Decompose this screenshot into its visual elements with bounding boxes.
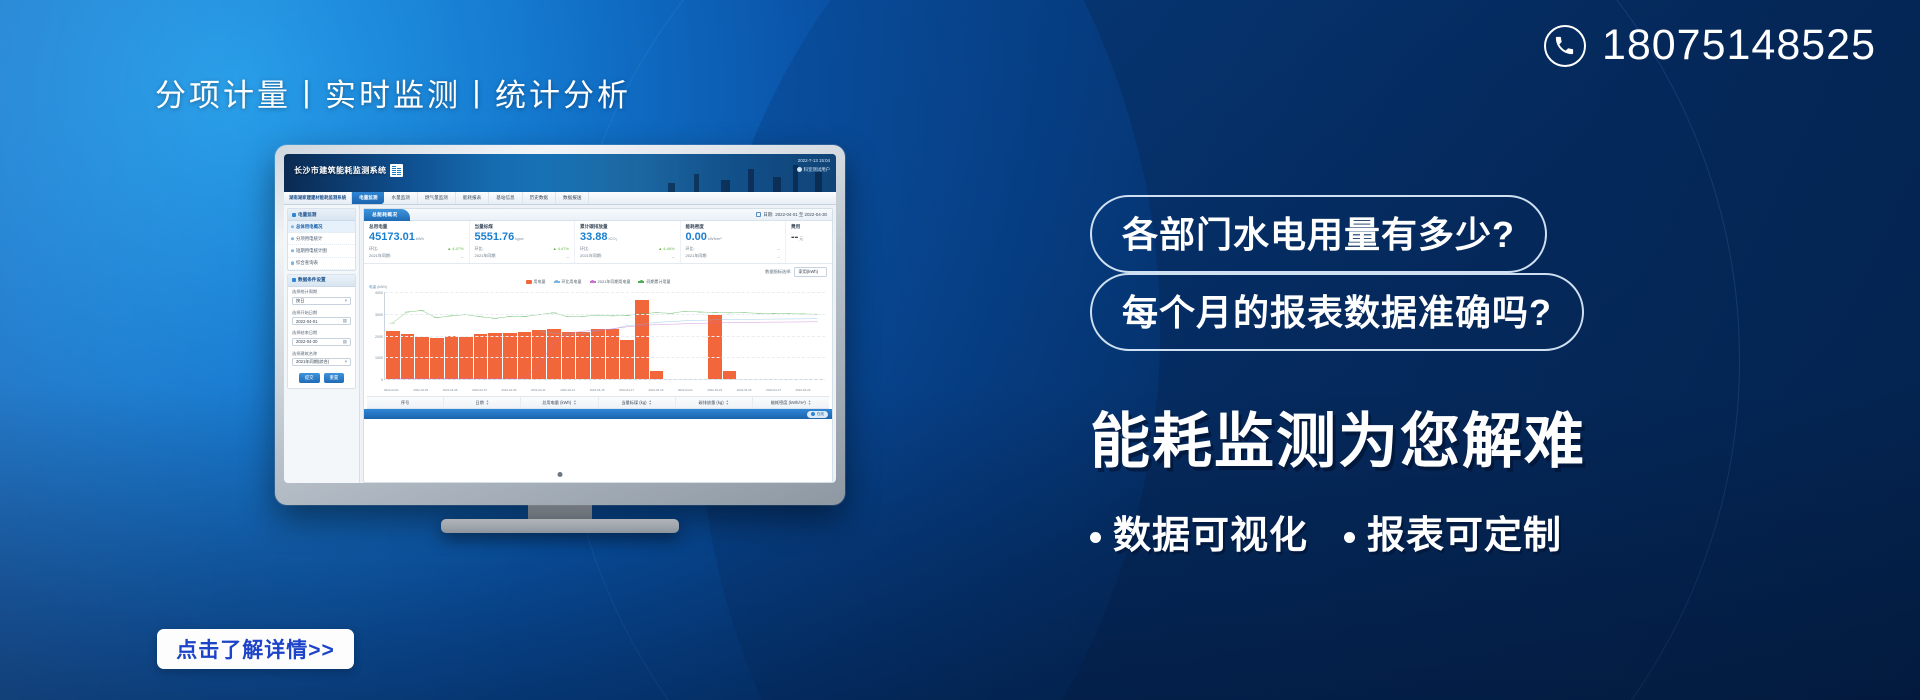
sidebar-item-query[interactable]: 综合查询表 — [288, 258, 355, 270]
kpi-value: 45173.01kWh — [369, 232, 464, 243]
kpi-number: 5551.76 — [475, 231, 515, 243]
kpi-title: 总用电量 — [369, 224, 464, 230]
kpi-yoy-row: 2021年同期: -- — [475, 253, 570, 259]
kpi-number: 33.88 — [580, 231, 608, 243]
banner-strapline: 分项计量丨实时监测丨统计分析 — [155, 70, 631, 115]
bullet-item-1: 数据可视化 — [1090, 504, 1308, 559]
nav-item-reports[interactable]: 能耗报表 — [456, 192, 489, 204]
main-headline: 能耗监测为您解难 — [1090, 393, 1880, 480]
kpi-yoy-label: 2021年同期: — [580, 253, 602, 259]
nav-item-history[interactable]: 历史数据 — [523, 192, 556, 204]
kpi-yoy-value: -- — [566, 254, 569, 259]
chart-x-tick: 2022-04-09 — [502, 388, 517, 392]
kpi-value: 33.88tCO₂ — [580, 232, 675, 243]
kpi-card-standard-coal: 当量标煤 5551.76kgce 环比: ▲4.47% 2021年同期: -- — [470, 221, 576, 263]
kpi-yoy-row: 2021年同期: -- — [369, 253, 464, 259]
chart-line-2021年同期用电量 — [392, 322, 817, 379]
kpi-yoy-row: 2021年同期: -- — [686, 253, 781, 259]
period-value: 按日 — [296, 298, 304, 304]
sort-icon[interactable]: ▲▼ — [486, 400, 489, 406]
field-building-label: 选择建筑名称 — [292, 351, 351, 357]
right-copy-column: 各部门水电用量有多少? 每个月的报表数据准确吗? 能耗监测为您解难 数据可视化 … — [1090, 195, 1880, 559]
kpi-ring-value-wrap: ▲4.46% — [658, 246, 674, 251]
dashboard-body: 电量监测 总体用电概况 分项用电统计 短期用电统计图 综合查询表 数据条件设置 — [284, 205, 836, 483]
sidebar-menu-card: 电量监测 总体用电概况 分项用电统计 短期用电统计图 综合查询表 — [287, 208, 356, 271]
kpi-yoy-value: -- — [777, 254, 780, 259]
reset-button[interactable]: 重置 — [324, 373, 345, 383]
legend-label-2: 2021年同期用电量 — [598, 279, 631, 285]
header-timestamp: 2022-7-13 15:04 — [797, 158, 830, 165]
legend-swatch-icon — [638, 281, 644, 283]
chart-plot: 电量 (kWh) 01000200030004000 2022-04-01202… — [369, 286, 827, 394]
monitor-bezel: 长沙市建筑能耗监测系统 2022-7-13 15:04 科室测试用户 湖南湖家建… — [275, 145, 845, 505]
field-end-date-label: 选择结束日期 — [292, 330, 351, 336]
monitor-stand-base — [441, 519, 679, 533]
chart-gridline: 1000 — [385, 357, 825, 358]
field-end-date: 选择结束日期 2022-04-30 ▦ — [288, 328, 355, 349]
kpi-ring-value: 4.46% — [663, 246, 674, 251]
kpi-card-carbon: 累计碳排放量 33.88tCO₂ 环比: ▲4.46% 2021年同期: -- — [575, 221, 681, 263]
legend-swatch-icon — [554, 281, 560, 283]
kpi-yoy-row: 2021年同期: -- — [580, 253, 675, 259]
table-column-header[interactable]: 日期▲▼ — [444, 397, 521, 408]
end-date-value: 2022-04-30 — [296, 339, 317, 344]
chart-x-tick: 2022-04-27 — [766, 388, 781, 392]
building-select[interactable]: 2021年同期(综合) ▾ — [292, 358, 351, 366]
dashboard-navbar: 湖南湖家建建材能耗监测系统 电量监测 水量监测 燃气量监测 能耗报表 基站信息 … — [284, 192, 836, 205]
panel-header: 总能耗概况 日期: 2022-04-01 至 2022-04-30 — [364, 209, 832, 221]
filter-buttons: 提交 重置 — [288, 369, 355, 388]
sidebar: 电量监测 总体用电概况 分项用电统计 短期用电统计图 综合查询表 数据条件设置 — [284, 205, 360, 483]
dashboard-header: 长沙市建筑能耗监测系统 2022-7-13 15:04 科室测试用户 — [284, 154, 836, 192]
field-period-label: 选择统计周期 — [292, 289, 351, 295]
chart-x-tick: 2022-04-13 — [560, 388, 575, 392]
sidebar-menu-title: 电量监测 — [298, 212, 316, 218]
bullet-dot-icon — [1090, 532, 1101, 543]
calendar-icon — [756, 212, 761, 217]
chart-line-同期累计用量 — [392, 310, 817, 323]
table-column-label: 日期 — [475, 400, 483, 406]
skyline-graphic — [494, 154, 836, 192]
kpi-card-density: 能耗密度 0.00kWh/m² 环比: -- 2021年同期: -- — [681, 221, 787, 263]
calendar-icon: ▦ — [343, 318, 347, 324]
system-logo: 长沙市建筑能耗监测系统 — [294, 164, 403, 177]
menu-icon — [292, 213, 296, 217]
chart-selector-label: 数据指标选择: — [765, 269, 791, 275]
legend-swatch-icon — [526, 280, 532, 284]
kpi-title: 能耗密度 — [686, 224, 781, 230]
kpi-ring-row: 环比: ▲4.47% — [369, 246, 464, 252]
legend-entry-3: 同期累计用量 — [638, 279, 670, 285]
kpi-ring-value-wrap: ▲4.47% — [447, 246, 463, 251]
kpi-number: 0.00 — [686, 231, 707, 243]
field-building: 选择建筑名称 2021年同期(综合) ▾ — [288, 348, 355, 369]
kpi-ring-value: -- — [777, 246, 780, 251]
chart-x-tick: 2022-04-21 — [678, 388, 693, 392]
trend-up-icon: ▲ — [553, 246, 557, 251]
kpi-value: 0.00kWh/m² — [686, 232, 781, 243]
chart-metric-selector-row: 数据指标选择: 家用(kWh) — [369, 267, 827, 277]
bullet-dot-icon — [1344, 532, 1355, 543]
phone-number: 18075148525 — [1602, 24, 1876, 67]
sidebar-filter-card: 数据条件设置 选择统计周期 按日 ▾ 选择开始日期 — [287, 274, 356, 389]
chart-x-tick: 2022-04-17 — [619, 388, 634, 392]
kpi-unit: tCO₂ — [609, 236, 618, 241]
monitor-power-led — [558, 472, 563, 477]
chart-gridline: 2000 — [385, 336, 825, 337]
sidebar-item-itemized[interactable]: 分项用电统计 — [288, 233, 355, 245]
table-column-header[interactable]: 碳排放量 (kg)▲▼ — [676, 397, 753, 408]
chart-y-tick: 3000 — [375, 313, 383, 317]
chart-y-tick: 1000 — [375, 356, 383, 360]
table-column-header: 序号 — [367, 397, 444, 408]
sidebar-filter-title: 数据条件设置 — [298, 277, 326, 283]
sort-icon[interactable]: ▲▼ — [573, 400, 576, 406]
table-column-label: 当量标煤 (kg) — [621, 400, 646, 406]
main-content: 总能耗概况 日期: 2022-04-01 至 2022-04-30 总用电量 — [360, 205, 836, 483]
kpi-unit: kWh — [416, 236, 424, 241]
kpi-ring-label: 环比: — [686, 246, 695, 252]
kpi-ring-label: 环比: — [475, 246, 484, 252]
header-user[interactable]: 科室测试用户 — [797, 167, 830, 174]
chart-y-axis-unit: (kWh) — [377, 285, 387, 289]
nav-item-water[interactable]: 水量监测 — [384, 192, 417, 204]
chart-x-tick: 2022-04-23 — [707, 388, 722, 392]
bullet-item-2: 报表可定制 — [1344, 504, 1562, 559]
panel-date-label: 日期: — [763, 212, 773, 218]
monitor-screen: 长沙市建筑能耗监测系统 2022-7-13 15:04 科室测试用户 湖南湖家建… — [284, 154, 836, 483]
chart-line-环比用电量 — [539, 319, 818, 334]
chart-x-tick: 2022-04-11 — [531, 388, 546, 392]
table-column-label: 能耗密度 (kWh/m²) — [771, 400, 806, 406]
submit-button[interactable]: 提交 — [299, 373, 320, 383]
kpi-value: --元 — [791, 232, 827, 243]
feature-bullets: 数据可视化 报表可定制 — [1090, 504, 1880, 559]
kpi-unit: 元 — [799, 236, 803, 241]
chart-y-axis-label: 电量 (kWh) — [369, 285, 387, 290]
legend-entry-2: 2021年同期用电量 — [590, 279, 631, 285]
table-header-row: 序号日期▲▼总用电量 (kWh)▲▼当量标煤 (kg)▲▼碳排放量 (kg)▲▼… — [367, 397, 829, 409]
kpi-ring-value: 4.47% — [558, 246, 569, 251]
kpi-ring-row: 环比: ▲4.47% — [475, 246, 570, 252]
user-icon — [797, 167, 802, 172]
kpi-ring-label: 环比: — [369, 246, 378, 252]
monitor-mockup: 长沙市建筑能耗监测系统 2022-7-13 15:04 科室测试用户 湖南湖家建… — [275, 145, 845, 505]
sort-icon[interactable]: ▲▼ — [726, 400, 729, 406]
status-dot-icon — [811, 412, 815, 416]
kpi-title: 累计碳排放量 — [580, 224, 675, 230]
period-select[interactable]: 按日 ▾ — [292, 297, 351, 305]
chart-legend: 用电量 环比用电量 2021年同期用电量 同期累计用量 — [369, 279, 827, 285]
chart-x-tick: 2022-04-03 — [413, 388, 428, 392]
field-start-date: 选择开始日期 2022-04-01 ▦ — [288, 307, 355, 328]
kpi-number: 45173.01 — [369, 231, 415, 243]
chart-container: 数据指标选择: 家用(kWh) 用电量 环比用电量 2021年同期用电量 同期累… — [364, 264, 832, 394]
kpi-value: 5551.76kgce — [475, 232, 570, 243]
table-column-header[interactable]: 当量标煤 (kg)▲▼ — [599, 397, 676, 408]
kpi-ring-value-wrap: ▲4.47% — [553, 246, 569, 251]
sidebar-item-shortterm[interactable]: 短期用电统计图 — [288, 245, 355, 257]
kpi-yoy-label: 2021年同期: — [475, 253, 497, 259]
phone-contact[interactable]: 18075148525 — [1544, 24, 1876, 67]
chart-metric-select[interactable]: 家用(kWh) — [794, 267, 827, 277]
chart-x-tick: 2022-04-19 — [649, 388, 664, 392]
question-pill-1: 各部门水电用量有多少? — [1090, 195, 1547, 273]
chart-x-tick: 2022-04-07 — [472, 388, 487, 392]
kpi-unit: kWh/m² — [708, 236, 722, 241]
panel-date-range[interactable]: 日期: 2022-04-01 至 2022-04-30 — [756, 212, 827, 218]
chart-x-tick: 2022-04-25 — [737, 388, 752, 392]
kpi-title: 当量标煤 — [475, 224, 570, 230]
chevron-down-icon: ▾ — [345, 298, 347, 304]
dashboard-statusbar: 在线 — [364, 409, 832, 419]
nav-item-data-submit[interactable]: 数据报送 — [556, 192, 589, 204]
status-label: 在线 — [817, 412, 824, 417]
chart-gridline: 3000 — [385, 314, 825, 315]
kpi-ring-row: 环比: ▲4.46% — [580, 246, 675, 252]
kpi-yoy-label: 2021年同期: — [686, 253, 708, 259]
nav-home-tab[interactable]: 湖南湖家建建材能耗监测系统 — [284, 192, 352, 204]
legend-label-1: 环比用电量 — [562, 279, 582, 285]
kpi-card-total-electricity: 总用电量 45173.01kWh 环比: ▲4.47% 2021年同期: -- — [364, 221, 470, 263]
table-column-label: 总用电量 (kWh) — [542, 400, 571, 406]
chart-x-tick: 2022-04-15 — [590, 388, 605, 392]
legend-label-3: 同期累计用量 — [646, 279, 670, 285]
sidebar-item-overview[interactable]: 总体用电概况 — [288, 221, 355, 233]
kpi-number: -- — [791, 231, 798, 243]
chart-y-tick: 0 — [381, 378, 383, 382]
building-value: 2021年同期(综合) — [296, 359, 329, 365]
field-start-date-label: 选择开始日期 — [292, 310, 351, 316]
chevron-down-icon: ▾ — [345, 359, 347, 365]
table-column-label: 序号 — [401, 400, 409, 406]
overview-panel: 总能耗概况 日期: 2022-04-01 至 2022-04-30 总用电量 — [363, 208, 833, 483]
chart-grid: 01000200030004000 — [384, 292, 825, 380]
chart-x-axis-labels: 2022-04-012022-04-032022-04-052022-04-07… — [384, 381, 825, 394]
nav-item-station-info[interactable]: 基站信息 — [489, 192, 522, 204]
start-date-value: 2022-04-01 — [296, 319, 317, 324]
chart-y-tick: 4000 — [375, 291, 383, 295]
kpi-yoy-value: -- — [672, 254, 675, 259]
nav-item-electricity[interactable]: 电量监测 — [352, 192, 384, 204]
table-column-header[interactable]: 总用电量 (kWh)▲▼ — [521, 397, 598, 408]
table-column-label: 碳排放量 (kg) — [699, 400, 724, 406]
chart-metric-value: 家用(kWh) — [798, 269, 818, 274]
bullet-label-2: 报表可定制 — [1367, 515, 1562, 557]
phone-circle-icon — [1544, 25, 1586, 67]
kpi-ring-label: 环比: — [580, 246, 589, 252]
building-icon — [390, 164, 403, 177]
sidebar-menu-header: 电量监测 — [288, 209, 355, 221]
sort-icon[interactable]: ▲▼ — [808, 400, 811, 406]
chart-gridline: 4000 — [385, 292, 825, 293]
legend-entry-1: 环比用电量 — [554, 279, 582, 285]
chart-x-tick: 2022-04-01 — [384, 388, 399, 392]
header-username: 科室测试用户 — [804, 167, 830, 174]
chart-y-tick: 2000 — [375, 335, 383, 339]
legend-label-0: 用电量 — [534, 279, 546, 285]
panel-date-value: 2022-04-01 至 2022-04-30 — [775, 212, 827, 218]
calendar-icon: ▦ — [343, 339, 347, 345]
kpi-ring-row: 环比: -- — [686, 246, 781, 252]
learn-more-button[interactable]: 点击了解详情>> — [157, 629, 354, 669]
end-date-input[interactable]: 2022-04-30 ▦ — [292, 338, 351, 346]
trend-up-icon: ▲ — [447, 246, 451, 251]
sidebar-filter-header: 数据条件设置 — [288, 275, 355, 287]
panel-tab-label: 总能耗概况 — [364, 209, 410, 221]
chart-gridline: 0 — [385, 379, 825, 380]
bullet-label-1: 数据可视化 — [1113, 515, 1308, 557]
dashboard-app: 长沙市建筑能耗监测系统 2022-7-13 15:04 科室测试用户 湖南湖家建… — [284, 154, 836, 483]
filter-icon — [292, 278, 296, 282]
system-title: 长沙市建筑能耗监测系统 — [294, 165, 386, 176]
data-table: 序号日期▲▼总用电量 (kWh)▲▼当量标煤 (kg)▲▼碳排放量 (kg)▲▼… — [367, 396, 829, 409]
legend-entry-0: 用电量 — [526, 279, 546, 285]
chart-x-tick: 2022-04-29 — [796, 388, 811, 392]
kpi-yoy-value: -- — [461, 254, 464, 259]
sort-icon[interactable]: ▲▼ — [648, 400, 651, 406]
table-column-header[interactable]: 能耗密度 (kWh/m²)▲▼ — [753, 397, 829, 408]
trend-up-icon: ▲ — [658, 246, 662, 251]
field-period: 选择统计周期 按日 ▾ — [288, 287, 355, 308]
start-date-input[interactable]: 2022-04-01 ▦ — [292, 317, 351, 325]
kpi-unit: kgce — [515, 236, 523, 241]
kpi-yoy-label: 2021年同期: — [369, 253, 391, 259]
kpi-ring-value: 4.47% — [452, 246, 463, 251]
header-meta: 2022-7-13 15:04 科室测试用户 — [797, 158, 830, 173]
legend-swatch-icon — [590, 281, 596, 283]
kpi-row: 总用电量 45173.01kWh 环比: ▲4.47% 2021年同期: -- — [364, 221, 832, 264]
kpi-title: 费用 — [791, 224, 827, 230]
chart-x-tick: 2022-04-05 — [443, 388, 458, 392]
kpi-card-cost: 费用 --元 — [786, 221, 832, 263]
question-pill-2: 每个月的报表数据准确吗? — [1090, 273, 1584, 351]
status-badge: 在线 — [807, 411, 828, 418]
nav-item-gas[interactable]: 燃气量监测 — [418, 192, 456, 204]
